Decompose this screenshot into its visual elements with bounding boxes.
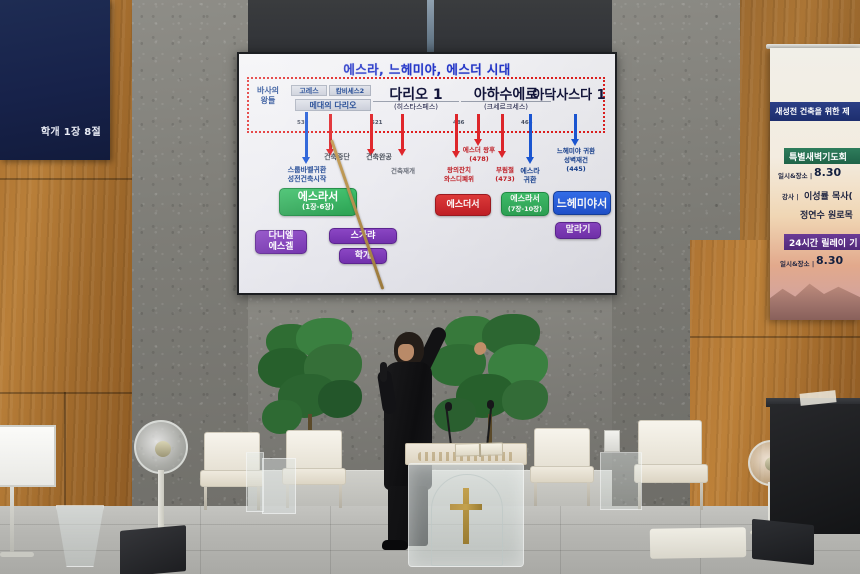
kings-row-label-line1: 바사의 [257, 86, 279, 95]
note-line1: 부림절 [496, 166, 514, 174]
floor-tile-line [330, 506, 331, 574]
glass-rail-left [246, 452, 264, 512]
note-ezra-return: 에스라 귀환 [513, 167, 547, 185]
book-name: 에스라서 [510, 193, 539, 204]
bible-spine [479, 444, 481, 457]
fan-hub [155, 441, 171, 457]
whiteboard-stand [10, 487, 14, 557]
note-line2: (473) [495, 175, 515, 183]
book-name: 느헤미야서 [557, 198, 608, 209]
note-line1: 에스더 왕후 [463, 146, 495, 154]
whiteboard-foot [0, 552, 34, 557]
arrow-construction-resume [401, 114, 404, 156]
mic-capsule-left [445, 402, 452, 411]
fan-cage [134, 420, 188, 474]
note-line2: 성전건축시작 [288, 175, 327, 183]
chair-back [638, 420, 702, 466]
floor-rug [650, 527, 747, 559]
book-box-daniel-ezekiel: 다니엘 에스겔 [255, 230, 307, 254]
note-line2: (478) [469, 155, 489, 163]
note-line3: (445) [566, 165, 586, 173]
organ-cabinet [770, 404, 860, 534]
king-chip-cambyses: 캄비세스2 [329, 85, 371, 96]
chair-leg [700, 482, 703, 510]
book-name: 말라기 [566, 225, 591, 236]
banner-left-verse: 학개 1장 8절 [0, 123, 110, 138]
banner-section1-line2-label: 강사 | [782, 191, 799, 201]
note-line1: 건축재개 [391, 167, 415, 175]
king-chip-cyrus: 고레스 [291, 85, 327, 96]
arrow-esther-queen [477, 114, 480, 146]
chair-leg [339, 484, 342, 508]
chair-leg [534, 482, 537, 506]
banner-mountain-graphic [770, 268, 860, 320]
cross-icon [463, 488, 469, 544]
note-line1: 건축완공 [366, 153, 392, 161]
banner-section1-title: 특별새벽기도회 [784, 148, 860, 164]
plant-left [256, 318, 366, 438]
note-vashti-banquet: 왕의잔치 와스디폐위 [435, 166, 483, 184]
slide-title: 에스라, 느헤미야, 에스더 시대 [239, 59, 615, 78]
banner-section2-line1-value: 8.30 [816, 254, 843, 267]
presenter-shoe [382, 540, 408, 550]
king-chip-darius-the-mede: 메대의 다리오 [295, 99, 371, 111]
arrow-ezra-return [529, 114, 532, 164]
book-box-esther: 에스더서 [435, 194, 491, 216]
note-construction-resume: 건축재개 [381, 167, 425, 176]
banner-section1-line2-value: 이성률 목사( [804, 189, 853, 202]
banner-section1-line1-label: 일시&장소 | [778, 170, 812, 180]
book-name-line2: 에스겔 [269, 242, 294, 253]
book-name: 에스더서 [446, 200, 479, 211]
sanctuary-scene: 학개 1장 8절 새성전 건축을 위한 제 특별새벽기도회 일시&장소 | 8.… [0, 0, 860, 574]
arrow-shaft [305, 112, 308, 158]
banner-headline: 새성전 건축을 위한 제 [770, 102, 860, 121]
note-line2: 성벽재건 [564, 156, 588, 164]
note-construction-complete: 건축완공 [357, 153, 401, 162]
arrow-shaft [401, 114, 404, 150]
mic-capsule-right [487, 400, 494, 409]
floor-speaker-left [120, 525, 186, 574]
panel-seam [0, 392, 132, 394]
kings-row-label-line2: 왕들 [261, 96, 276, 105]
whiteboard [0, 425, 56, 487]
arrow-shaft [477, 114, 480, 140]
book-box-ezra-1-6: 에스라서 (1장-6장) [279, 188, 357, 216]
note-line2: 귀환 [524, 176, 537, 184]
note-line1: 느헤미야 귀환 [557, 147, 595, 155]
banner-section2-line1-label: 일시&장소 | [780, 258, 814, 268]
book-box-ezra-7-10: 에스라서 (7장-10장) [501, 192, 549, 216]
floor-tile-line [560, 506, 561, 574]
glass-rail-right [600, 452, 642, 510]
king-sub-darius-1: (히스타스페스) [373, 101, 459, 112]
arrow-nehemiah-return [574, 114, 577, 146]
arrow-head [302, 157, 310, 164]
banner-left: 학개 1장 8절 [0, 0, 110, 160]
arrow-head [474, 139, 482, 146]
banner-section2-title: 24시간 릴레이 기 [784, 234, 860, 250]
arrow-construction-complete [370, 114, 373, 156]
arrow-zerubbabel-return [305, 112, 308, 164]
slide-content: 에스라, 느헤미야, 에스더 시대 바사의 왕들 고레스 캄비세스2 메대의 다… [239, 54, 615, 293]
book-box-haggai: 학개 [339, 248, 387, 264]
ceiling-light-slot [427, 0, 434, 58]
note-line1: 왕의잔치 [447, 166, 471, 174]
king-name-artaxerxes-1: 아닥사스다 1 [529, 84, 609, 103]
arrow-shaft [574, 114, 577, 140]
wall-switch-plate [604, 430, 620, 452]
note-zerubbabel-return: 스룹바벨귀환 성전건축시작 [271, 166, 343, 184]
note-esther-queen: 에스더 왕후 (478) [453, 146, 505, 164]
cross-icon-crossbar [450, 504, 482, 510]
note-line1: 스룹바벨귀환 [288, 166, 327, 174]
presenter-face [398, 344, 414, 361]
panel-seam [0, 178, 132, 180]
arrow-shaft [529, 114, 532, 158]
chair-seat [530, 466, 594, 483]
open-bible [455, 442, 503, 456]
note-nehemiah-return: 느헤미야 귀환 성벽재건 (445) [545, 147, 607, 174]
chair-right-outer [634, 420, 708, 504]
book-sub: (1장-6장) [302, 202, 334, 213]
microphone [380, 362, 387, 382]
floor-monitor-right [752, 519, 814, 566]
chair-leg [587, 482, 590, 506]
chair-right-inner [530, 428, 594, 506]
arrow-head [526, 157, 534, 164]
book-name-line1: 다니엘 [269, 231, 294, 242]
arrow-head [571, 139, 579, 146]
side-table [262, 458, 296, 514]
book-box-nehemiah: 느헤미야서 [553, 191, 611, 215]
book-sub: (7장-10장) [508, 204, 542, 215]
book-box-malachi: 말라기 [555, 222, 601, 239]
note-line1: 에스라 [520, 167, 539, 175]
book-name: 에스라서 [298, 191, 338, 202]
chair-seat [634, 464, 708, 483]
arrow-shaft [370, 114, 373, 150]
kings-row-label: 바사의 왕들 [251, 86, 285, 106]
floor-tile-line [200, 506, 201, 574]
banner-section1-line1-value: 8.30 [814, 166, 841, 179]
chair-back [534, 428, 590, 468]
banner-section1-line3: 정연수 원로목 [800, 208, 853, 221]
arrow-construction-halt [329, 114, 332, 156]
panel-seam [690, 336, 860, 338]
fan-pole [158, 470, 164, 532]
note-line2: 와스디폐위 [444, 175, 474, 183]
banner-right: 새성전 건축을 위한 제 특별새벽기도회 일시&장소 | 8.30 강사 | 이… [770, 48, 860, 320]
